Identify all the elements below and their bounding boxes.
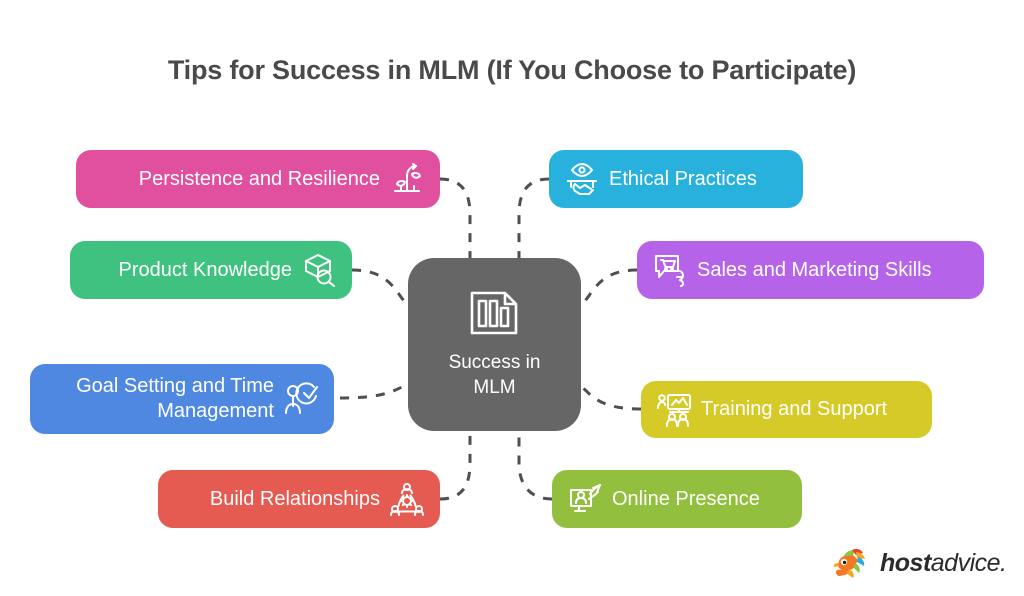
branch-label: Online Presence [612, 487, 760, 512]
branch-build-relationships[interactable]: Build Relationships [158, 470, 440, 528]
monitor-person-icon [568, 482, 602, 516]
branch-label: Sales and Marketing Skills [697, 258, 932, 283]
connector-right-2 [581, 270, 637, 305]
branch-label: Training and Support [701, 397, 887, 422]
hostadvice-logo[interactable]: hostadvice. [832, 545, 1007, 581]
connector-left-3 [340, 384, 408, 398]
branch-label: Build Relationships [210, 487, 380, 512]
connector-left-2 [352, 270, 408, 305]
connector-right-4 [519, 431, 552, 499]
branch-goal-setting-and-time-management[interactable]: Goal Setting and Time Management [30, 364, 334, 434]
box-magnifier-icon [302, 253, 336, 287]
branch-sales-and-marketing-skills[interactable]: Sales and Marketing Skills [637, 241, 984, 299]
document-bar-chart-icon [469, 290, 521, 336]
connector-left-1 [440, 179, 470, 258]
connector-right-1 [519, 179, 549, 258]
branch-online-presence[interactable]: Online Presence [552, 470, 802, 528]
branch-label: Goal Setting and Time Management [76, 374, 274, 424]
logo-text: hostadvice. [880, 549, 1007, 578]
branch-training-and-support[interactable]: Training and Support [641, 381, 932, 438]
logo-text-bold: host [880, 549, 931, 577]
logo-text-thin: advice. [931, 549, 1007, 577]
branch-persistence-and-resilience[interactable]: Persistence and Resilience [76, 150, 440, 208]
branch-ethical-practices[interactable]: Ethical Practices [549, 150, 803, 208]
people-network-icon [390, 482, 424, 516]
presentation-audience-icon [657, 393, 691, 427]
eye-handshake-icon [565, 162, 599, 196]
branch-label: Ethical Practices [609, 167, 757, 192]
page-title: Tips for Success in MLM (If You Choose t… [0, 55, 1024, 86]
connector-right-3 [581, 386, 641, 409]
center-node-label: Success in MLM [435, 350, 555, 400]
parrot-mascot-icon [832, 546, 872, 580]
center-node-success-in-mlm[interactable]: Success in MLM [408, 258, 581, 431]
sprout-growth-icon [390, 162, 424, 196]
branch-product-knowledge[interactable]: Product Knowledge [70, 241, 352, 299]
branch-label: Persistence and Resilience [139, 167, 380, 192]
branch-label: Product Knowledge [119, 258, 292, 283]
person-check-icon [284, 382, 318, 416]
connector-left-4 [440, 431, 470, 499]
infographic-canvas: Tips for Success in MLM (If You Choose t… [0, 0, 1024, 596]
cart-speech-bubble-icon [653, 253, 687, 287]
